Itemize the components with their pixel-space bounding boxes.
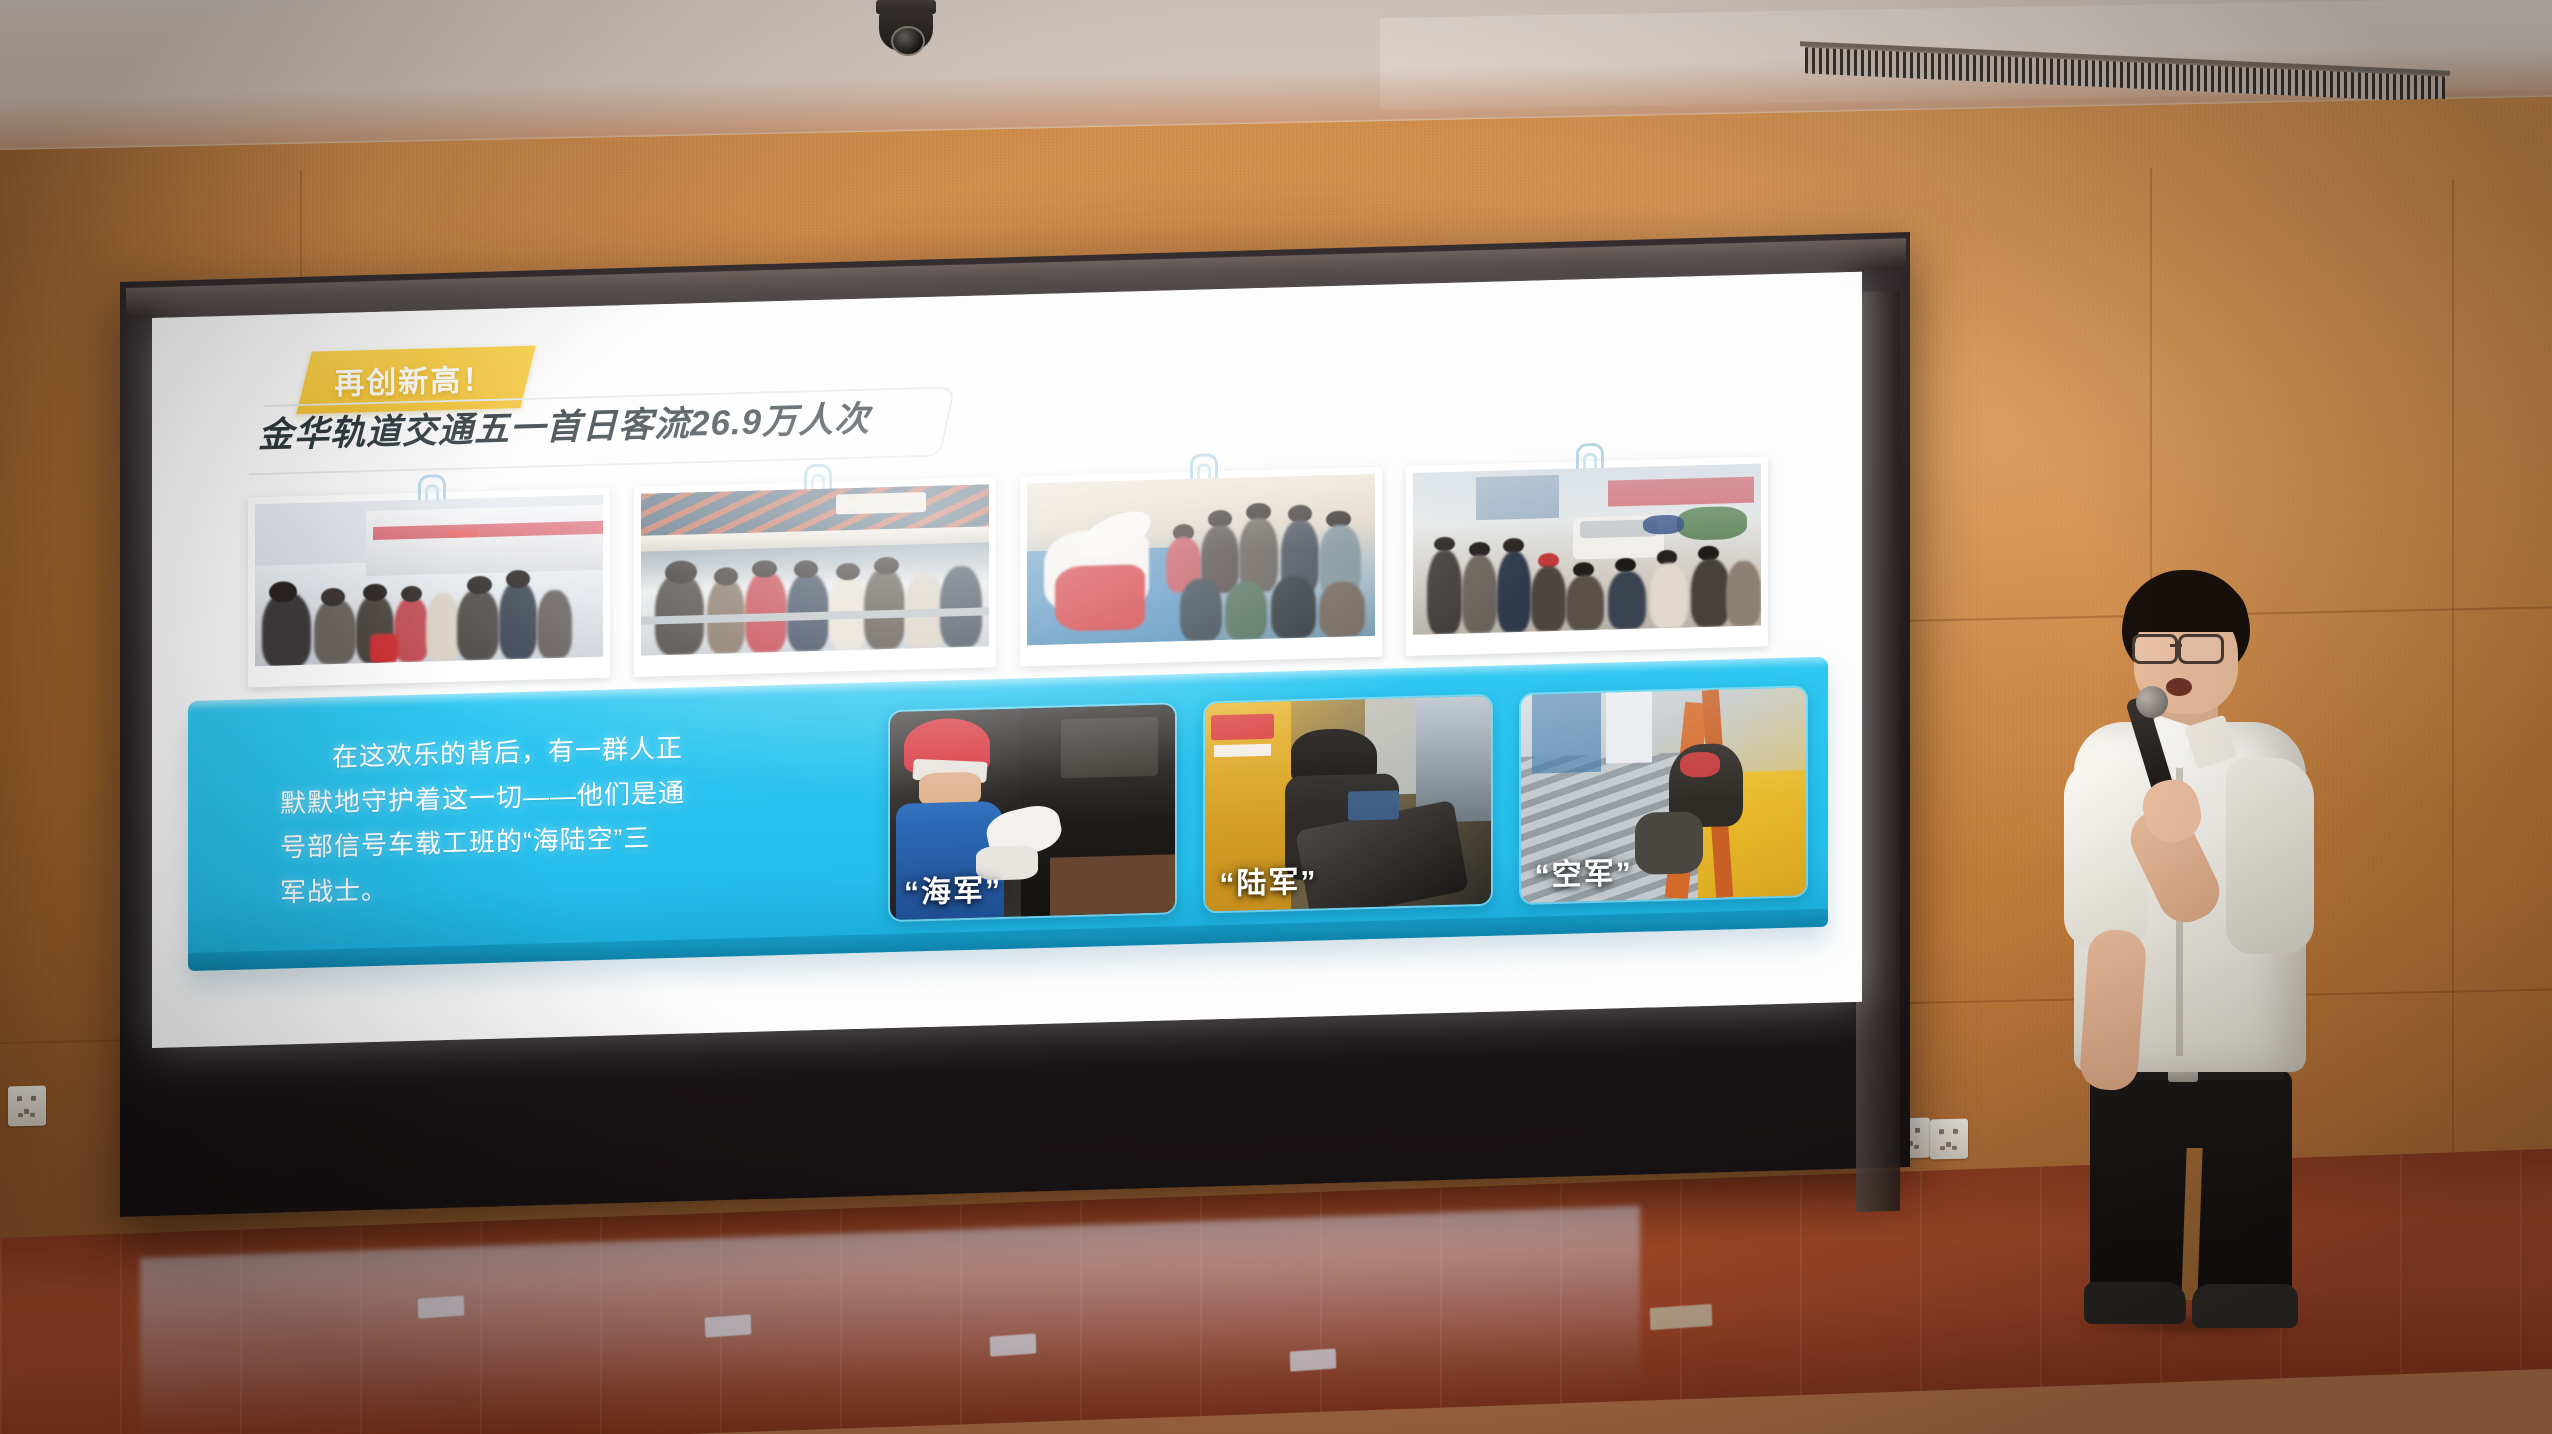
photo-image (255, 495, 603, 666)
headline-badge-label: 再创新高！ (334, 355, 494, 403)
floor-marker (705, 1314, 752, 1337)
mini-photo-navy: “海军” (888, 702, 1177, 922)
presenter-shoe-right (2192, 1284, 2298, 1328)
projected-slide: 再创新高！ 金华轨道交通五一首日客流26.9万人次 (152, 272, 1862, 1048)
mini-photo-label: “海军” (904, 865, 1002, 912)
scene-root: 再创新高！ 金华轨道交通五一首日客流26.9万人次 (0, 0, 2552, 1434)
photo-mascot-performance (1020, 467, 1382, 667)
mini-photo-army: “陆军” (1203, 694, 1492, 914)
presenter-hair-fringe (2124, 582, 2248, 632)
glasses-icon (2132, 634, 2178, 664)
presenter-shoe-left (2084, 1282, 2186, 1324)
photo-image (641, 484, 989, 655)
floor-marker (1290, 1348, 1337, 1371)
presenter-mouth (2166, 678, 2192, 696)
presenter-arm-left (2078, 928, 2147, 1092)
floor-marker (990, 1333, 1037, 1356)
mini-photo-airforce: “空军” (1519, 685, 1808, 905)
floor-marker (1650, 1304, 1713, 1330)
mini-photo-label: “空军” (1535, 848, 1633, 895)
photo-station-hall-crowd (634, 477, 996, 677)
glasses-icon (2178, 634, 2224, 664)
photo-image (1027, 474, 1375, 645)
wall-socket-right-b[interactable] (1930, 1119, 1968, 1160)
paragraph-line: 号部信号车载工班的“海陆空”三 (280, 823, 650, 863)
camera-lens-icon (891, 26, 925, 56)
screen-bevel-right (1856, 291, 1900, 1212)
security-camera-icon (872, 0, 940, 58)
panel-paragraph: 在这欢乐的背后，有一群人正 默默地守护着这一切——他们是通 号部信号车载工班的“… (280, 721, 840, 915)
paragraph-line: 默默地守护着这一切——他们是通 (280, 777, 685, 818)
glasses-bridge (2170, 644, 2182, 647)
photo-row (248, 456, 1768, 687)
paragraph-line: 在这欢乐的背后，有一群人正 (280, 721, 840, 781)
photo-station-plaza (1406, 456, 1768, 656)
photo-platform-crowd (248, 488, 610, 688)
mini-photo-row: “海军” (888, 685, 1808, 922)
photo-image (1413, 463, 1761, 634)
presenter-with-microphone (2040, 570, 2330, 1320)
mini-photo-label: “陆军” (1219, 856, 1317, 903)
wall-socket-left[interactable] (8, 1086, 46, 1127)
wall-seam-vertical (2452, 180, 2454, 1230)
floor-marker (418, 1295, 465, 1318)
blue-content-panel: 在这欢乐的背后，有一群人正 默默地守护着这一切——他们是通 号部信号车载工班的“… (188, 657, 1828, 971)
paragraph-line: 军战士。 (280, 875, 388, 908)
presenter-sleeve-right (2226, 758, 2314, 954)
wall-seam-vertical (300, 170, 302, 290)
